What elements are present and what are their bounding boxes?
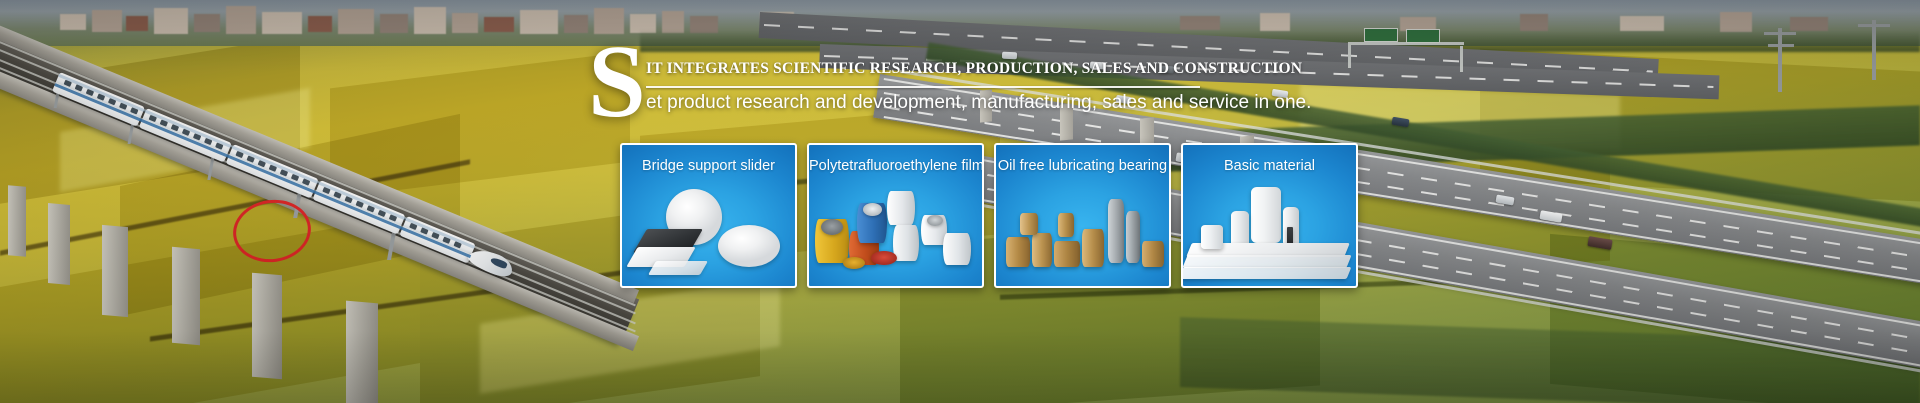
- hero-text-block: S IT INTEGRATES SCIENTIFIC RESEARCH, PRO…: [588, 34, 1208, 134]
- card-title: Bridge support slider: [622, 158, 795, 174]
- card-art-film-rolls-and-rings: [809, 185, 982, 286]
- card-title: Basic material: [1183, 158, 1356, 174]
- card-art-discs-and-plates: [622, 185, 795, 286]
- drop-cap-letter: S: [588, 30, 646, 134]
- highway-sign: [1406, 29, 1440, 43]
- card-art-bronze-bushings: [996, 185, 1169, 286]
- highway-sign: [1364, 28, 1398, 42]
- hero-subheadline: et product research and development, man…: [646, 92, 1246, 114]
- product-card-ptfe-film[interactable]: Polytetrafluoroethylene film: [807, 143, 984, 288]
- card-title: Polytetrafluoroethylene film: [809, 158, 982, 174]
- hero-headline: IT INTEGRATES SCIENTIFIC RESEARCH, PRODU…: [646, 60, 1206, 78]
- product-card-row: Bridge support slider Polytetrafluoroeth…: [620, 143, 1358, 288]
- product-card-oil-free-bearing[interactable]: Oil free lubricating bearing: [994, 143, 1171, 288]
- card-title: Oil free lubricating bearing: [996, 158, 1169, 174]
- vehicle: [1587, 236, 1612, 250]
- hero-banner: S IT INTEGRATES SCIENTIFIC RESEARCH, PRO…: [0, 0, 1920, 403]
- card-art-ptfe-rods-and-sheets: [1183, 185, 1356, 286]
- headline-divider: [646, 86, 1200, 88]
- product-card-basic-material[interactable]: Basic material: [1181, 143, 1358, 288]
- product-card-bridge-support-slider[interactable]: Bridge support slider: [620, 143, 797, 288]
